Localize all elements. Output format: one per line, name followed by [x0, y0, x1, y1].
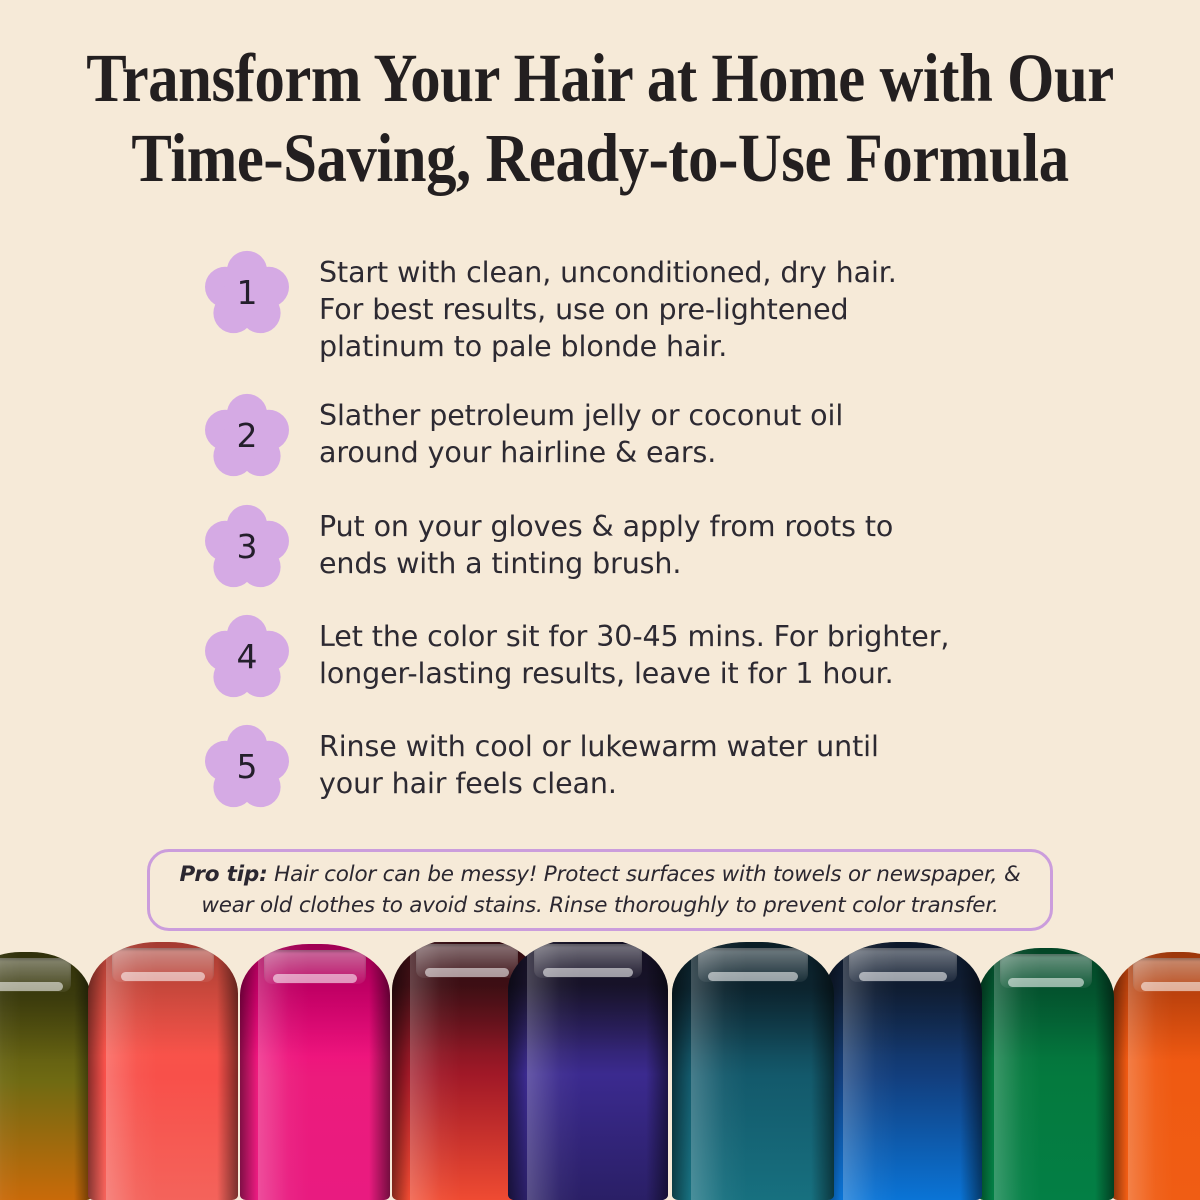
page-title: Transform Your Hair at Home with Our Tim… [0, 38, 1200, 198]
bottle-cap-glint [859, 972, 947, 981]
bottle-cap-glint [273, 974, 357, 983]
pro-tip-body: Hair color can be messy! Protect surface… [201, 862, 1020, 918]
step-badge-2: 2 [205, 393, 289, 477]
pro-tip-text: Pro tip: Hair color can be messy! Protec… [174, 859, 1026, 921]
teal-bottle [672, 942, 834, 1200]
hot-pink-bottle [240, 944, 390, 1200]
bottle-left-edge [392, 942, 409, 1200]
bottle-shadow [1112, 952, 1200, 1061]
bottle-cap-glint [121, 972, 205, 981]
bottle-sheen [258, 944, 309, 1200]
bottle-sheen [106, 942, 157, 1200]
bottle-cap-highlight [264, 950, 366, 984]
indigo-violet-bottle [508, 942, 668, 1200]
bottle-cap-highlight [0, 958, 71, 992]
bottle-cap-highlight [1000, 954, 1092, 988]
bottle-shadow [978, 948, 1114, 1059]
bottle-shadow [0, 952, 92, 1061]
royal-blue-bottle [824, 942, 982, 1200]
bottle-cap-glint [0, 982, 63, 991]
step-text-5: Rinse with cool or lukewarm water until … [319, 728, 1039, 802]
list-item: 4 Let the color sit for 30-45 mins. For … [0, 612, 1200, 698]
step-badge-4: 4 [205, 614, 289, 698]
bottle-right-edge [646, 942, 668, 1200]
list-item: 1 Start with clean, unconditioned, dry h… [0, 248, 1200, 365]
bottle-cap-glint [708, 972, 799, 981]
list-item: 5 Rinse with cool or lukewarm water unti… [0, 722, 1200, 808]
bottle-right-edge [1095, 948, 1114, 1200]
bottle-cap-highlight [534, 944, 643, 978]
bottle-left-edge [508, 942, 526, 1200]
bottle-right-edge [960, 942, 982, 1200]
step-text-3: Put on your gloves & apply from roots to… [319, 508, 1039, 582]
olive-green-bottle [0, 952, 92, 1200]
bottle-shadow [672, 942, 834, 1056]
emerald-green-bottle [978, 948, 1114, 1200]
bottle-cap-glint [1008, 978, 1084, 987]
bottle-cap-glint [1141, 982, 1200, 991]
bottle-left-edge [672, 942, 690, 1200]
step-number-2: 2 [205, 393, 289, 477]
step-badge-5: 5 [205, 724, 289, 808]
step-number-4: 4 [205, 614, 289, 698]
bottle-cap-highlight [416, 944, 518, 978]
bottle-right-edge [811, 942, 834, 1200]
page-title-line-2: Time-Saving, Ready-to-Use Formula [72, 118, 1128, 198]
bottle-left-edge [88, 942, 105, 1200]
list-item: 3 Put on your gloves & apply from roots … [0, 502, 1200, 588]
bottle-sheen [527, 942, 581, 1200]
bottle-cap-highlight [1133, 958, 1200, 992]
step-text-2: Slather petroleum jelly or coconut oil a… [319, 397, 1039, 471]
bottle-left-edge [1112, 952, 1127, 1200]
bottle-shadow [824, 942, 982, 1056]
bottle-left-edge [240, 944, 257, 1200]
pro-tip-callout: Pro tip: Hair color can be messy! Protec… [147, 849, 1053, 931]
bottle-sheen [994, 948, 1040, 1200]
step-text-1: Start with clean, unconditioned, dry hai… [319, 254, 1039, 365]
page-title-line-1: Transform Your Hair at Home with Our [72, 38, 1128, 118]
step-badge-1: 1 [205, 250, 289, 334]
bottle-shadow [240, 944, 390, 1057]
bottle-sheen [691, 942, 746, 1200]
step-number-1: 1 [205, 250, 289, 334]
bottle-row-image [0, 942, 1200, 1200]
bottle-shadow [508, 942, 668, 1053]
infographic-page: Transform Your Hair at Home with Our Tim… [0, 0, 1200, 1200]
bottle-right-edge [369, 944, 390, 1200]
list-item: 2 Slather petroleum jelly or coconut oil… [0, 391, 1200, 477]
bottle-sheen [410, 942, 461, 1200]
bottle-cap-highlight [698, 948, 808, 982]
step-text-4: Let the color sit for 30-45 mins. For br… [319, 618, 1039, 692]
step-badge-3: 3 [205, 504, 289, 588]
bottle-shadow [88, 942, 238, 1056]
bottle-right-edge [217, 942, 238, 1200]
step-number-3: 3 [205, 504, 289, 588]
bottle-sheen [843, 942, 897, 1200]
step-number-5: 5 [205, 724, 289, 808]
bottle-sheen [0, 952, 21, 1200]
bottle-cap-glint [543, 968, 633, 977]
steps-list: 1 Start with clean, unconditioned, dry h… [0, 248, 1200, 808]
bright-orange-bottle [1112, 952, 1200, 1200]
bottle-sheen [1128, 952, 1173, 1200]
bottle-cap-highlight [849, 948, 956, 982]
coral-red-bottle [88, 942, 238, 1200]
bottle-cap-glint [425, 968, 509, 977]
bottle-cap-highlight [112, 948, 214, 982]
pro-tip-label: Pro tip: [179, 862, 267, 887]
